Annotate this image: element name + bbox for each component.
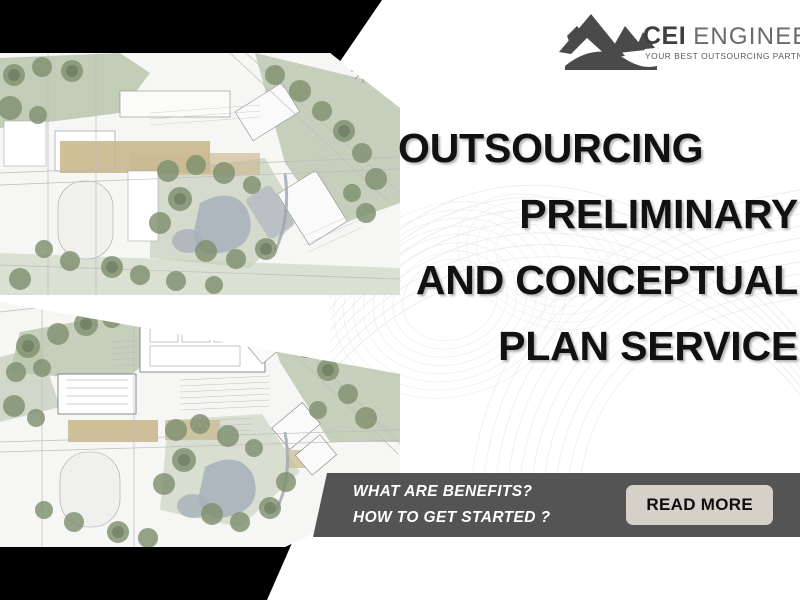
headline-line-1: OUTSOURCING xyxy=(398,128,798,169)
company-logo: CEI ENGINEERS YOUR BEST OUTSOURCING PART… xyxy=(547,6,782,76)
logo-tagline: YOUR BEST OUTSOURCING PARTNER xyxy=(645,51,800,61)
architectural-site-plan-top xyxy=(0,53,400,295)
cta-question-line-1: WHAT ARE BENEFITS? xyxy=(353,479,550,505)
headline-line-4: PLAN SERVICE xyxy=(398,326,798,367)
page-title: OUTSOURCING PRELIMINARY AND CONCEPTUAL P… xyxy=(398,128,798,367)
call-to-action-bar: WHAT ARE BENEFITS? HOW TO GET STARTED ? … xyxy=(313,473,800,537)
cta-question-line-2: HOW TO GET STARTED ? xyxy=(353,505,550,531)
cta-question-text: WHAT ARE BENEFITS? HOW TO GET STARTED ? xyxy=(353,479,550,530)
read-more-button[interactable]: READ MORE xyxy=(626,485,773,525)
mountain-range-icon xyxy=(547,8,657,70)
site-plan-drawing-top xyxy=(0,53,400,295)
logo-brand-secondary: ENGINEERS xyxy=(693,25,800,49)
headline-line-3: AND CONCEPTUAL xyxy=(398,260,798,301)
headline-line-2: PRELIMINARY xyxy=(398,194,798,235)
marketing-banner: CEI ENGINEERS YOUR BEST OUTSOURCING PART… xyxy=(0,0,800,600)
logo-wordmark: CEI ENGINEERS xyxy=(643,24,800,49)
logo-brand-primary: CEI xyxy=(643,24,686,49)
